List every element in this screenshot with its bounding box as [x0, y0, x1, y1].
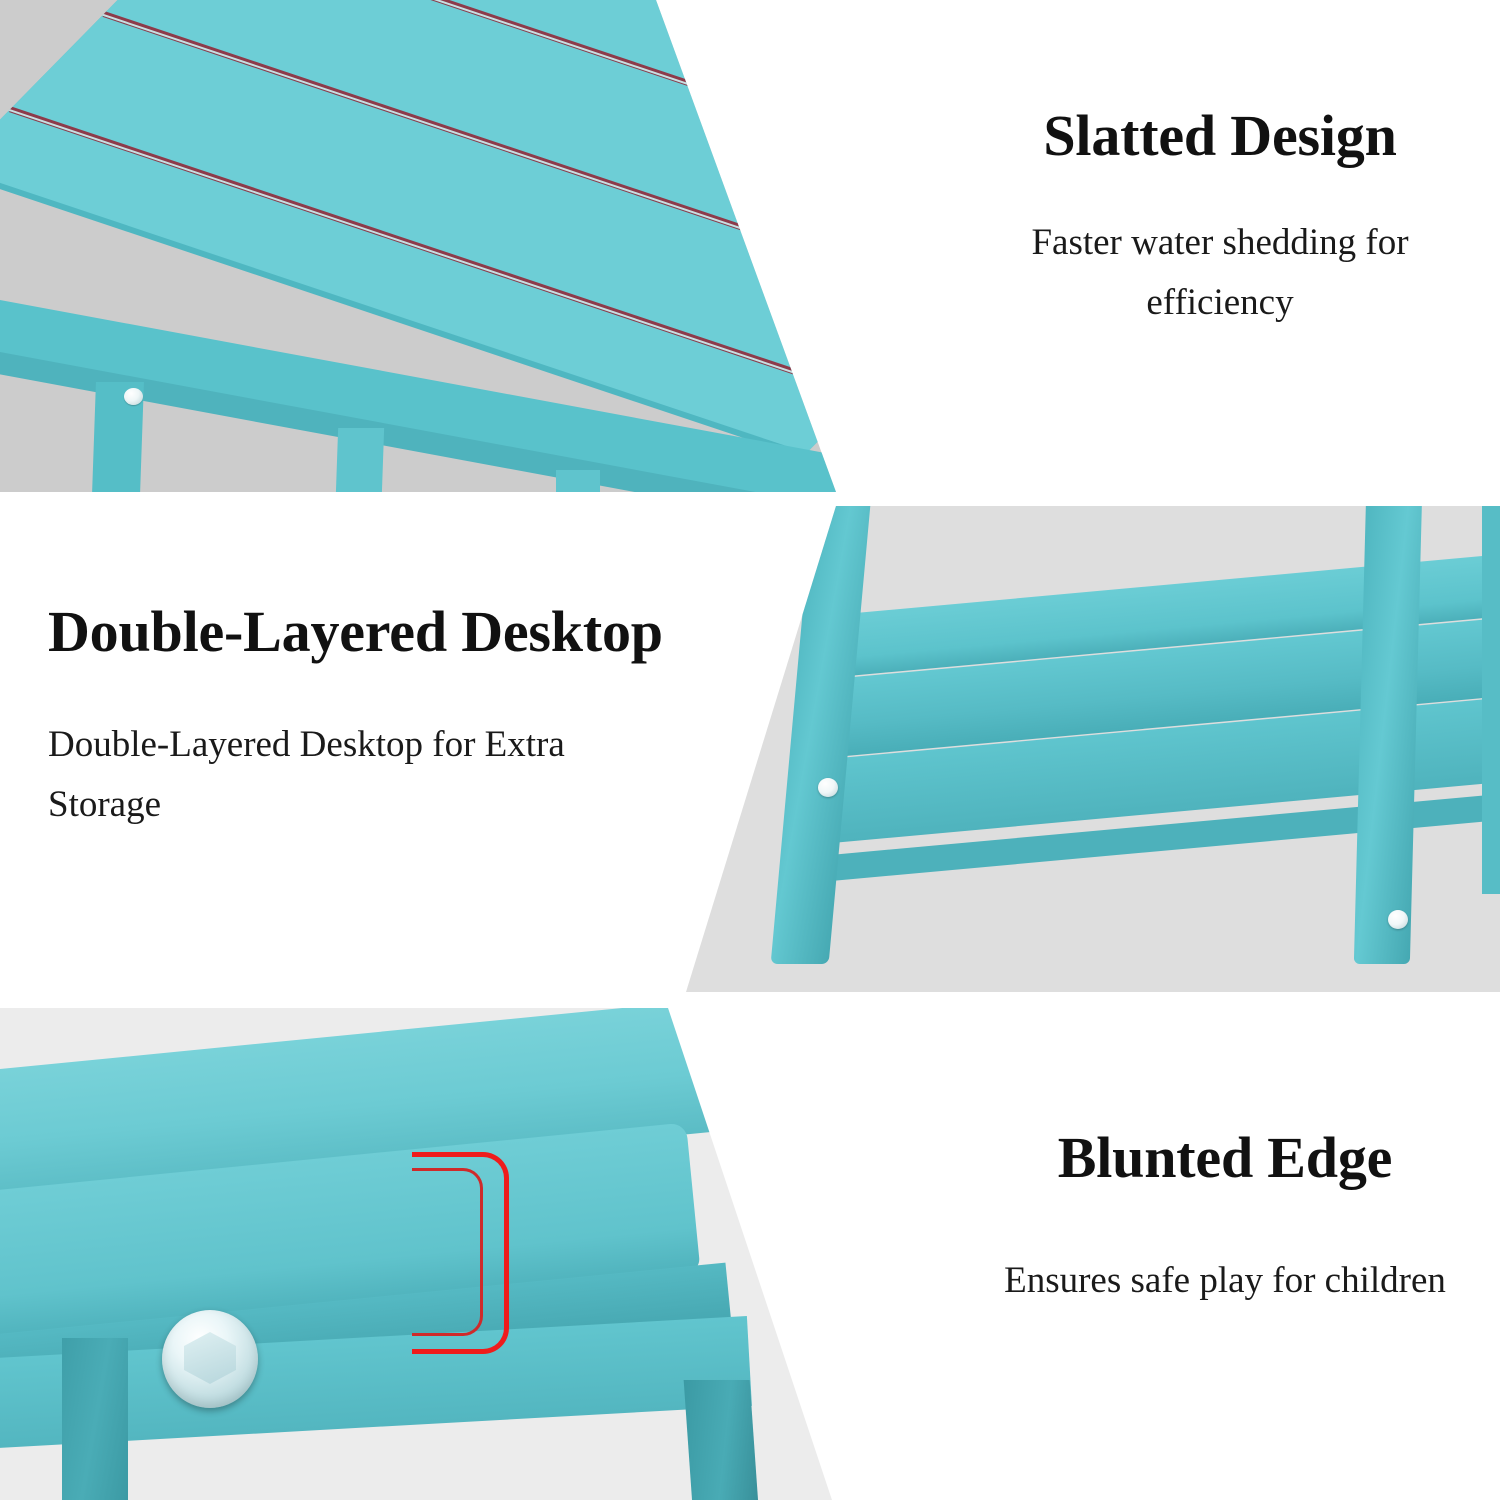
slat-seam [291, 0, 860, 109]
feature-title: Blunted Edge [965, 1126, 1485, 1191]
product-photo-lower-shelf [620, 506, 1500, 992]
feature-description: Ensures safe play for children [965, 1251, 1485, 1311]
table-shelf-assembly [620, 506, 1500, 992]
slat-seam [197, 0, 860, 204]
table-leg [1354, 506, 1422, 964]
red-highlight-annotation-inner [412, 1168, 483, 1336]
feature-copy-blunted-edge: Blunted Edge Ensures safe play for child… [965, 1126, 1485, 1311]
table-leg [556, 470, 600, 492]
feature-copy-slatted-design: Slatted Design Faster water shedding for… [960, 104, 1480, 333]
product-photo-slatted-top [0, 0, 860, 492]
slat-seam [104, 12, 860, 300]
feature-panel-blunted-edge: Blunted Edge Ensures safe play for child… [0, 1008, 1500, 1500]
table-leg [684, 1380, 759, 1500]
table-leg [1482, 506, 1500, 894]
feature-description: Double-Layered Desktop for Extra Storage [48, 715, 668, 835]
table-leg [336, 428, 384, 492]
feature-panel-slatted-design: Slatted Design Faster water shedding for… [0, 0, 1500, 492]
screw-icon [1388, 910, 1408, 929]
feature-panel-double-layered-desktop: Double-Layered Desktop Double-Layered De… [0, 506, 1500, 992]
screw-icon [124, 388, 143, 405]
table-leg [62, 1338, 128, 1500]
infographic-sheet: Slatted Design Faster water shedding for… [0, 0, 1500, 1500]
feature-title: Slatted Design [960, 104, 1480, 169]
hex-bolt-icon [162, 1310, 258, 1408]
feature-copy-double-layered-desktop: Double-Layered Desktop Double-Layered De… [48, 600, 668, 835]
feature-title: Double-Layered Desktop [48, 600, 668, 665]
screw-icon [818, 778, 838, 797]
feature-description: Faster water shedding for efficiency [960, 213, 1480, 333]
